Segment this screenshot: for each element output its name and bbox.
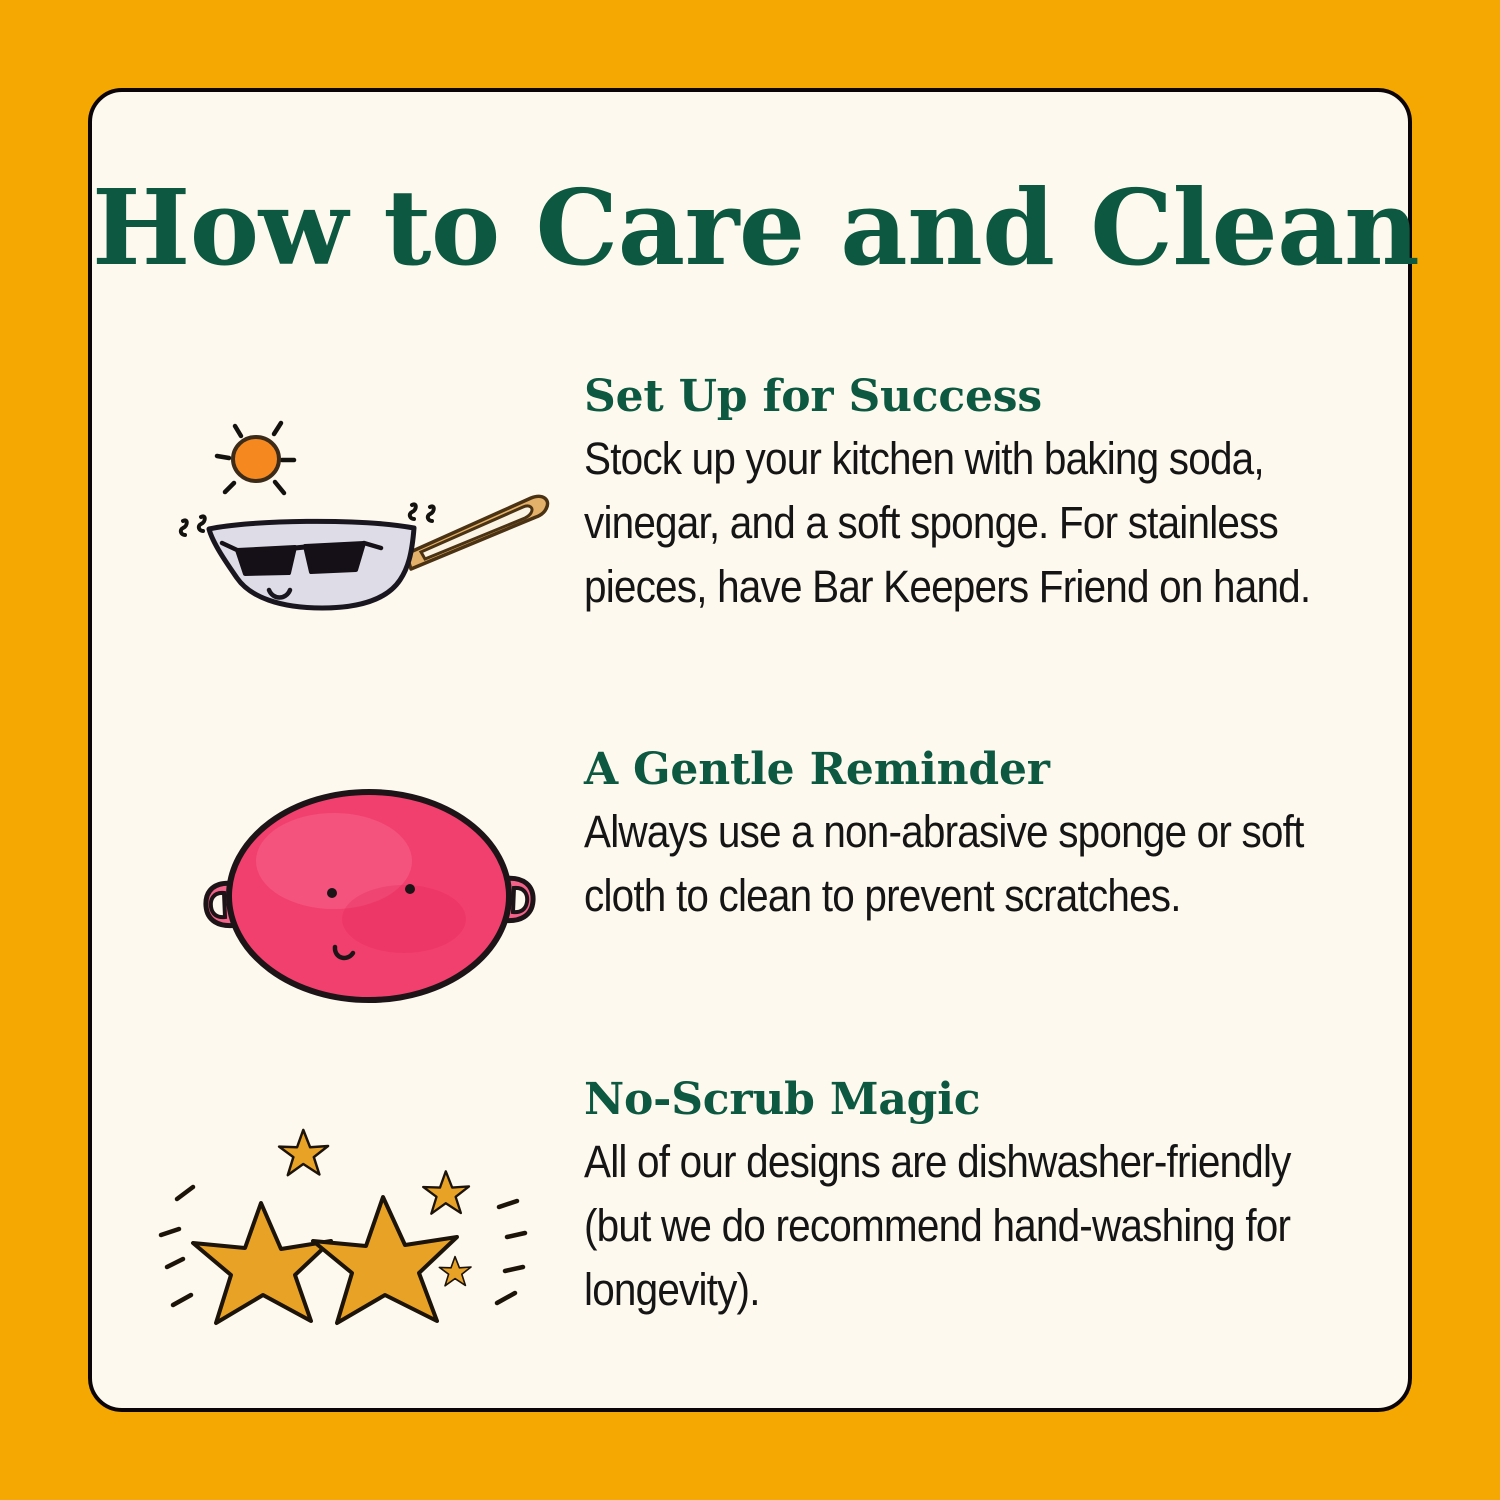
pink-pot-face-icon — [154, 737, 584, 1017]
stars-illustration-svg — [169, 1115, 569, 1345]
star-small-right-icon — [439, 1256, 471, 1285]
care-and-clean-card: How to Care and Clean — [88, 88, 1412, 1412]
section-copy: A Gentle Reminder Always use a non-abras… — [584, 737, 1354, 928]
section-body: Stock up your kitchen with baking soda, … — [584, 427, 1353, 619]
section-a-gentle-reminder: A Gentle Reminder Always use a non-abras… — [154, 737, 1354, 1017]
section-heading: A Gentle Reminder — [584, 745, 1354, 794]
sparkle-dashes-right-icon — [497, 1201, 525, 1303]
star-mid-right-icon — [423, 1171, 469, 1213]
section-body: All of our designs are dishwasher-friend… — [584, 1130, 1353, 1322]
section-no-scrub-magic: No-Scrub Magic All of our designs are di… — [154, 1067, 1354, 1332]
section-copy: No-Scrub Magic All of our designs are di… — [584, 1067, 1354, 1322]
pan-handle-icon — [406, 496, 548, 569]
infographic-canvas: How to Care and Clean — [0, 0, 1500, 1500]
steam-right-icon — [410, 504, 434, 521]
sun-disc-icon — [233, 437, 279, 481]
section-copy: Set Up for Success Stock up your kitchen… — [584, 364, 1354, 619]
section-heading: Set Up for Success — [584, 372, 1354, 421]
section-body: Always use a non-abrasive sponge or soft… — [584, 800, 1353, 928]
pot-eye-right-icon — [405, 884, 415, 894]
pan-illustration-svg — [159, 374, 579, 634]
star-top-icon — [279, 1129, 328, 1174]
star-big-right-icon — [313, 1197, 457, 1323]
happy-pan-with-sunglasses-icon — [154, 364, 584, 644]
pot-eye-left-icon — [327, 888, 337, 898]
pink-pot-illustration-svg — [169, 769, 569, 1019]
steam-left-icon — [181, 516, 205, 535]
section-set-up-for-success: Set Up for Success Stock up your kitchen… — [154, 364, 1354, 644]
sparkle-stars-icon — [154, 1067, 584, 1332]
page-title: How to Care and Clean — [92, 172, 1408, 284]
star-big-left-icon — [193, 1203, 331, 1323]
section-heading: No-Scrub Magic — [584, 1075, 1354, 1124]
sparkle-dashes-left-icon — [161, 1187, 193, 1305]
